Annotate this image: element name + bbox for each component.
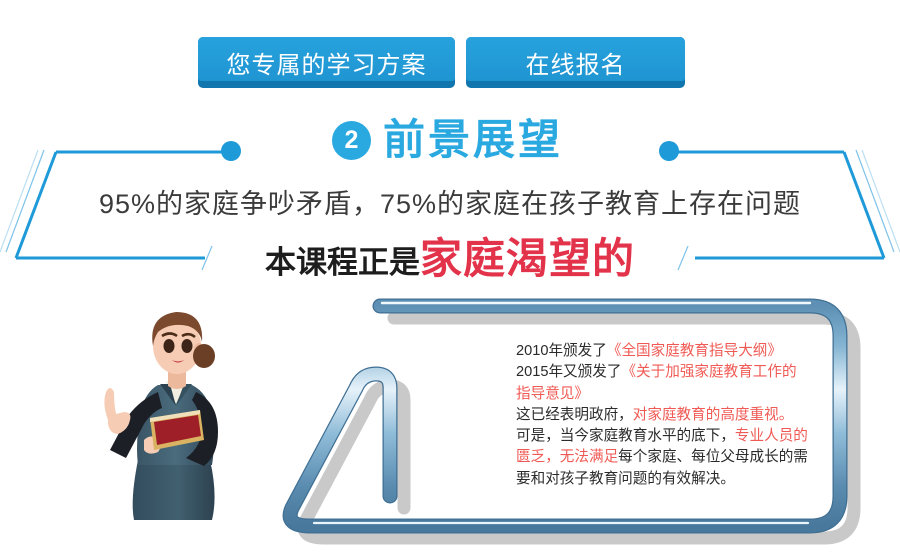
body-segment: 要和对孩子教育问题的有效解决。: [516, 471, 735, 487]
teacher-hair-bun: [193, 344, 215, 368]
body-segment: 专业人员的: [735, 428, 808, 444]
body-segment: 2010年颁发了: [516, 343, 607, 359]
body-line: 这已经表明政府，对家庭教育的高度重视。: [516, 405, 816, 426]
teacher-illustration: [100, 300, 270, 560]
body-line: 要和对孩子教育问题的有效解决。: [516, 469, 816, 490]
subtitle-text: 95%的家庭争吵矛盾，75%的家庭在孩子教育上存在问题: [0, 182, 900, 221]
tagline: 本课程正是家庭渴望的: [0, 233, 900, 295]
page-title: 前景展望: [383, 117, 563, 163]
section-number-badge: 2: [332, 121, 371, 160]
tagline-prefix: 本课程正是: [265, 245, 420, 280]
body-segment: 对家庭教育的高度重视。: [633, 407, 794, 423]
teacher-eye-right: [182, 339, 193, 353]
body-line: 2010年颁发了《全国家庭教育指导大纲》: [516, 341, 816, 362]
body-segment: 可是，当今家庭教育水平的底下，: [516, 428, 735, 444]
body-line: 2015年又颁发了《关于加强家庭教育工作的: [516, 362, 816, 383]
slide-canvas: 您专属的学习方案 在线报名 2 前景展望 95%的家庭争吵矛盾，75%的家庭在孩…: [0, 0, 900, 560]
teacher-eye-left: [164, 339, 175, 353]
body-text-block: 2010年颁发了《全国家庭教育指导大纲》 2015年又颁发了《关于加强家庭教育工…: [516, 341, 816, 490]
section-number-text: 2: [345, 128, 359, 153]
study-plan-button[interactable]: 您专属的学习方案: [198, 37, 455, 88]
body-segment: 指导意见》: [516, 386, 589, 402]
body-segment: 2015年又颁发了: [516, 364, 621, 380]
body-line: 匮乏，无法满足每个家庭、每位父母成长的需: [516, 447, 816, 468]
body-line: 指导意见》: [516, 384, 816, 405]
tagline-highlight: 家庭渴望的: [420, 235, 635, 282]
body-line: 可是，当今家庭教育水平的底下，专业人员的: [516, 426, 816, 447]
body-segment: 匮乏，无法满足: [516, 449, 618, 465]
bracket-dot-left: [221, 141, 241, 161]
bracket-dot-right: [659, 141, 679, 161]
body-segment: 这已经表明政府，: [516, 407, 633, 423]
body-segment: 《全国家庭教育指导大纲》: [607, 343, 782, 359]
body-segment: 每个家庭、每位父母成长的需: [618, 449, 808, 465]
study-plan-button-label: 您专属的学习方案: [227, 45, 427, 80]
teacher-skirt: [133, 460, 215, 520]
signup-button-label: 在线报名: [526, 45, 626, 80]
body-segment: 《关于加强家庭教育工作的: [621, 364, 796, 380]
teacher-pointing-hand: [104, 388, 130, 434]
signup-button[interactable]: 在线报名: [466, 37, 685, 88]
